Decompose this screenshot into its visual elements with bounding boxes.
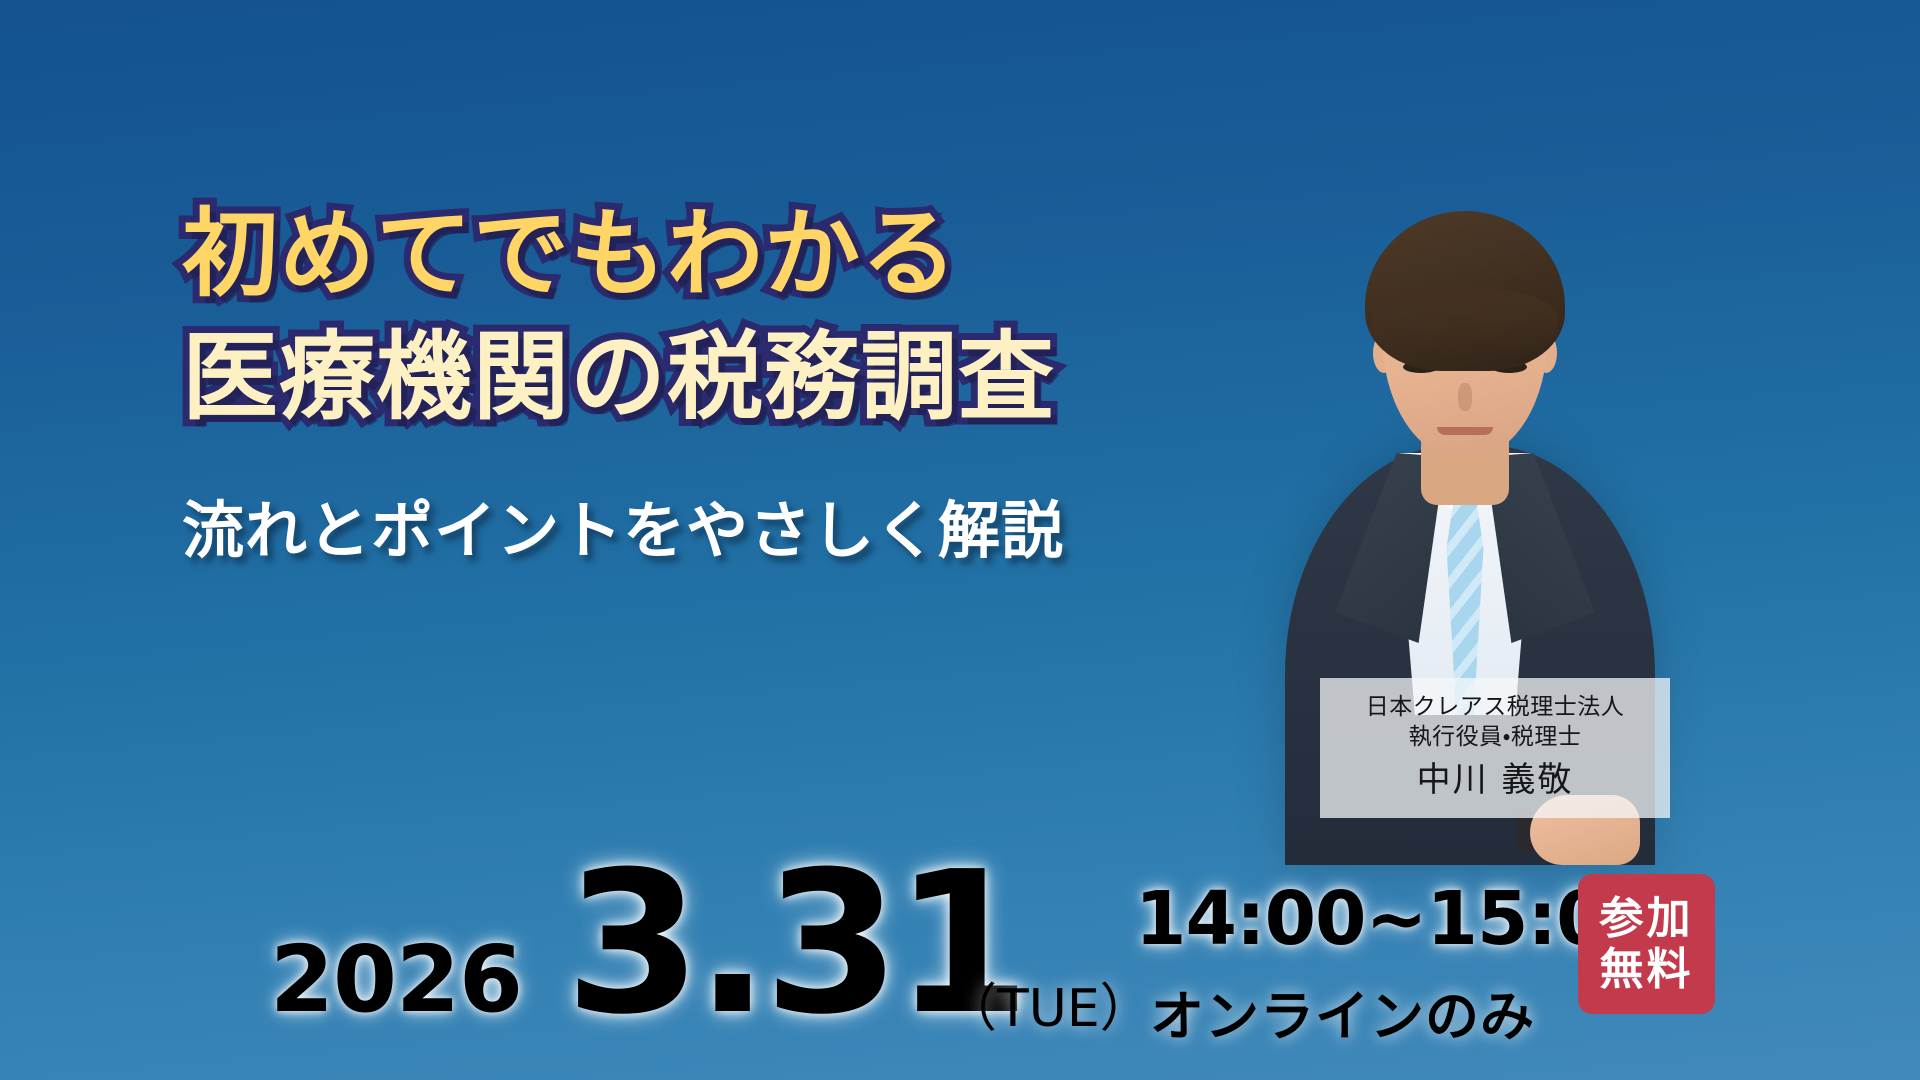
speaker-caption-box: 日本クレアス税理士法人 執行役員・税理士 中川 義敬 (1320, 678, 1670, 818)
headline: 初めてでもわかる 医療機関の税務調査 (182, 196, 1222, 436)
subtitle: 流れとポイントをやさしく解説 (182, 480, 1242, 570)
speaker-role: 執行役員・税理士 (1409, 723, 1582, 752)
schedule-mode: オンラインのみ (1150, 972, 1535, 1051)
headline-line-2: 医療機関の税務調査 (182, 319, 1222, 436)
free-participation-badge: 参加 無料 (1578, 874, 1715, 1014)
hair-icon (1365, 211, 1565, 371)
speaker-name: 中川 義敬 (1417, 758, 1574, 802)
badge-line-2: 無料 (1600, 944, 1694, 995)
nose-icon (1458, 383, 1472, 411)
webinar-banner: 初めてでもわかる 医療機関の税務調査 流れとポイントをやさしく解説 日本クレアス… (0, 0, 1920, 1080)
headline-line-1: 初めてでもわかる (182, 196, 1222, 313)
schedule-day-of-week: （TUE） (945, 966, 1152, 1041)
badge-line-1: 参加 (1600, 893, 1694, 944)
mouth-icon (1437, 427, 1493, 435)
speaker-organization: 日本クレアス税理士法人 (1366, 693, 1625, 722)
schedule-year: 2026 (270, 926, 522, 1033)
